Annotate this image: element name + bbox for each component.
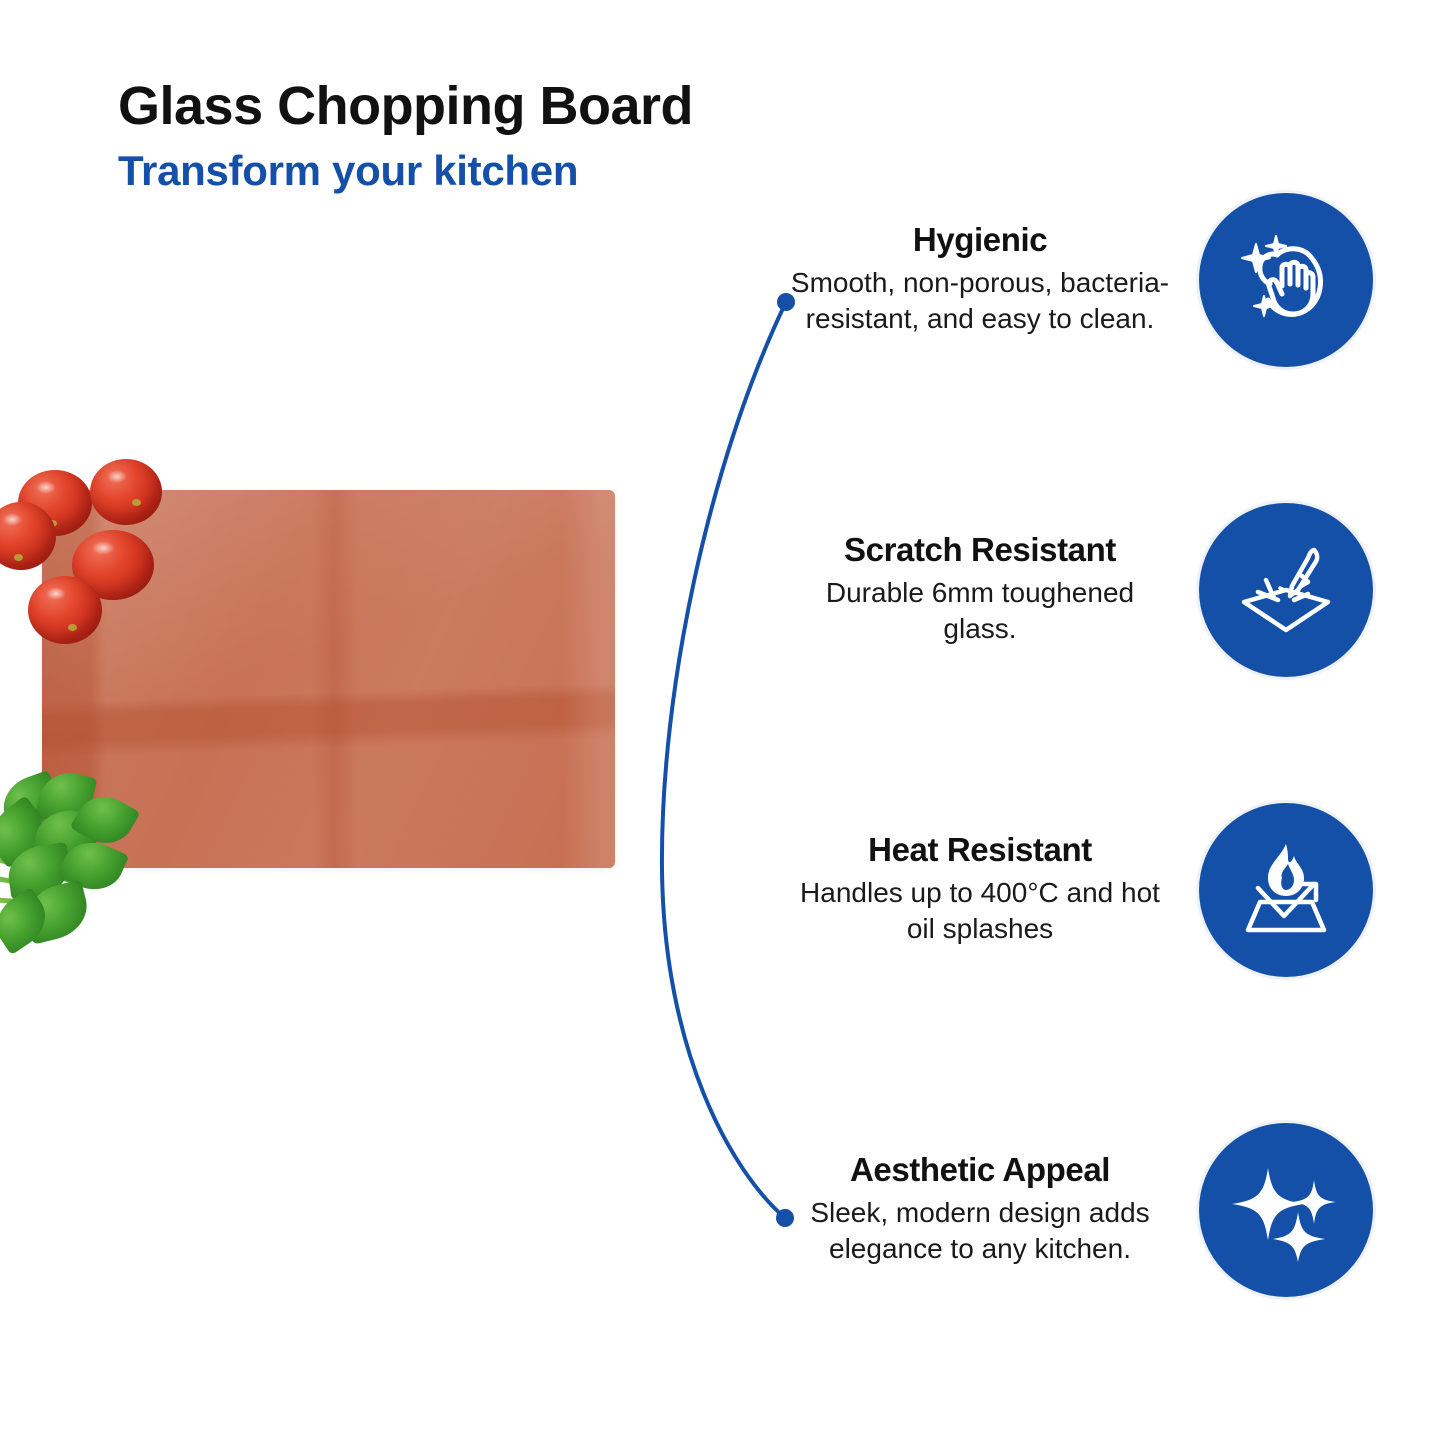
feature-aesthetic-appeal: Aesthetic Appeal Sleek, modern design ad… xyxy=(790,1120,1390,1300)
knife-impact-surface-icon xyxy=(1196,500,1376,680)
tomato-stem xyxy=(132,499,141,506)
feature-title: Heat Resistant xyxy=(790,832,1170,869)
product-image xyxy=(0,440,660,970)
page-subtitle: Transform your kitchen xyxy=(118,148,693,193)
infographic-page: Glass Chopping Board Transform your kitc… xyxy=(0,0,1445,1445)
sparkles-icon xyxy=(1196,1120,1376,1300)
flame-deflect-surface-icon xyxy=(1196,800,1376,980)
cherry-tomato xyxy=(28,576,102,644)
feature-description: Sleek, modern design adds elegance to an… xyxy=(790,1195,1170,1269)
tomato-stem xyxy=(68,624,77,631)
connector-curve xyxy=(600,270,840,1260)
page-title: Glass Chopping Board xyxy=(118,78,693,134)
cherry-tomato xyxy=(90,459,162,525)
connector-path xyxy=(662,302,786,1218)
feature-text-block: Hygienic Smooth, non-porous, bacteria-re… xyxy=(790,222,1170,339)
cleaning-hand-sparkle-icon xyxy=(1196,190,1376,370)
feature-description: Durable 6mm toughened glass. xyxy=(790,575,1170,649)
feature-title: Aesthetic Appeal xyxy=(790,1152,1170,1189)
feature-text-block: Scratch Resistant Durable 6mm toughened … xyxy=(790,532,1170,649)
feature-text-block: Heat Resistant Handles up to 400°C and h… xyxy=(790,832,1170,949)
feature-heat-resistant: Heat Resistant Handles up to 400°C and h… xyxy=(790,800,1390,980)
feature-hygienic: Hygienic Smooth, non-porous, bacteria-re… xyxy=(790,190,1390,370)
feature-text-block: Aesthetic Appeal Sleek, modern design ad… xyxy=(790,1152,1170,1269)
feature-title: Hygienic xyxy=(790,222,1170,259)
parsley-garnish xyxy=(0,770,162,970)
header: Glass Chopping Board Transform your kitc… xyxy=(118,78,693,194)
feature-description: Smooth, non-porous, bacteria-resistant, … xyxy=(790,265,1170,339)
tomato-stem xyxy=(14,554,23,561)
feature-scratch-resistant: Scratch Resistant Durable 6mm toughened … xyxy=(790,500,1390,680)
feature-title: Scratch Resistant xyxy=(790,532,1170,569)
feature-description: Handles up to 400°C and hot oil splashes xyxy=(790,875,1170,949)
